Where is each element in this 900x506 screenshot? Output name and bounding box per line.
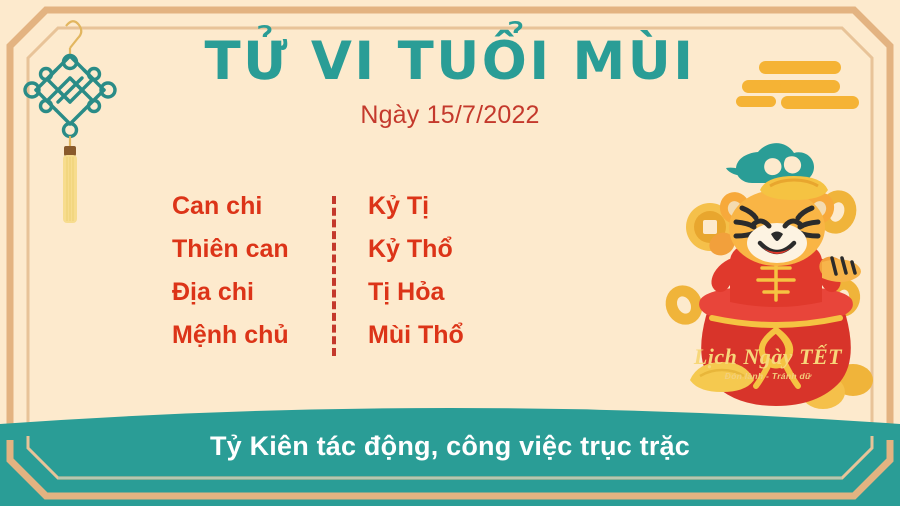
info-label: Can chi: [172, 192, 332, 221]
gold-ingot-icon: [760, 176, 828, 200]
tassel-icon: [63, 136, 77, 223]
watermark-tagline: Đón lành - Tránh dữ: [688, 371, 848, 381]
fortune-character: [758, 260, 794, 300]
watermark-logo: Lịch Ngày TẾT Đón lành - Tránh dữ: [688, 346, 848, 381]
watermark-name: Lịch Ngày TẾT: [688, 346, 848, 368]
info-value: Kỷ Tị: [332, 192, 429, 221]
tiger-head: [715, 176, 838, 266]
page-title: TỬ VI TUỔI MÙI: [0, 34, 900, 89]
info-label: Mệnh chủ: [172, 321, 332, 350]
teal-swirl-cloud-icon: [726, 143, 814, 183]
info-value: Kỷ Thổ: [332, 235, 453, 264]
tiger-arm: [822, 258, 861, 282]
horoscope-card: TỬ VI TUỔI MÙI Ngày 15/7/2022 Can chi Kỷ…: [0, 0, 900, 506]
info-value: Tị Hỏa: [332, 278, 444, 307]
info-label: Địa chi: [172, 278, 332, 307]
info-label: Thiên can: [172, 235, 332, 264]
page-date: Ngày 15/7/2022: [0, 101, 900, 130]
info-table: Can chi Kỷ Tị Thiên can Kỷ Thổ Địa chi T…: [172, 192, 532, 364]
info-value: Mùi Thổ: [332, 321, 464, 350]
table-row: Mệnh chủ Mùi Thổ: [172, 321, 532, 364]
header: TỬ VI TUỔI MÙI Ngày 15/7/2022: [0, 34, 900, 130]
banner-text: Tỷ Kiên tác động, công việc trục trặc: [0, 431, 900, 462]
table-row: Địa chi Tị Hỏa: [172, 278, 532, 321]
table-row: Can chi Kỷ Tị: [172, 192, 532, 235]
table-row: Thiên can Kỷ Thổ: [172, 235, 532, 278]
